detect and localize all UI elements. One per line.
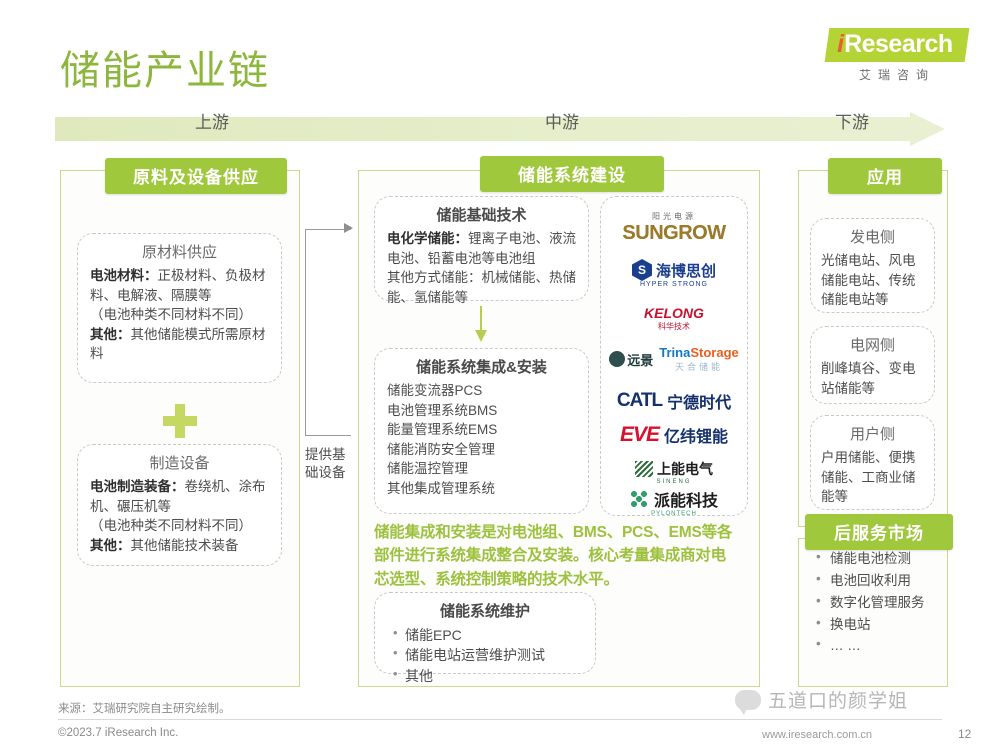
- equipment-label-1: 电池制造装备：: [90, 479, 185, 494]
- system-maintenance-title: 储能系统维护: [375, 600, 595, 621]
- raw-material-note: （电池种类不同材料不同）: [90, 307, 252, 322]
- sungrow-cn: 阳光电源: [601, 211, 747, 222]
- page-number: 12: [958, 727, 971, 741]
- plus-icon: [163, 404, 197, 438]
- company-logo-envision: 远景: [609, 350, 653, 369]
- company-logo-hyperstrong: S 海博思创 HYPER STRONG: [601, 259, 747, 288]
- equipment-label-2: 其他：: [90, 538, 131, 553]
- copyright-note: ©2023.7 iResearch Inc.: [58, 727, 178, 739]
- integration-item: 储能消防安全管理: [387, 440, 576, 460]
- hyperstrong-cn: 海博思创: [656, 260, 716, 281]
- grid-side-text: 削峰填谷、变电站储能等: [811, 359, 934, 404]
- equipment-note: （电池种类不同材料不同）: [90, 518, 252, 533]
- stage-label-downstream: 下游: [835, 108, 869, 133]
- company-logo-trina: TrinaStorage 天合储能: [659, 345, 738, 373]
- page-title: 储能产业链: [60, 38, 270, 96]
- after-service-header-pill: 后服务市场: [805, 514, 953, 550]
- raw-material-label-1: 电池材料：: [90, 268, 158, 283]
- after-service-list: 储能电池检测 电池回收利用 数字化管理服务 换电站 … …: [806, 548, 946, 657]
- trina-cn: 天合储能: [659, 360, 738, 373]
- upstream-to-midstream-connector: [305, 229, 351, 436]
- envision-mark-icon: [609, 351, 625, 367]
- storage-basic-tech-card: 储能基础技术 电化学储能：锂离子电池、液流电池、铅蓄电池等电池组 其他方式储能：…: [374, 196, 589, 301]
- raw-material-card: 原材料供应 电池材料：正极材料、负极材料、电解液、隔膜等 （电池种类不同材料不同…: [77, 233, 282, 383]
- source-note: 来源：艾瑞研究院自主研究绘制。: [58, 700, 231, 716]
- storage-basic-tech-title: 储能基础技术: [375, 204, 588, 225]
- upstream-header-pill: 原料及设备供应: [105, 158, 287, 194]
- generation-side-text: 光储电站、风电储能电站、传统储能电站等: [811, 251, 934, 316]
- kelong-cn: 科华技术: [601, 321, 747, 332]
- envision-cn: 远景: [627, 350, 653, 369]
- manufacturing-equipment-body: 电池制造装备：卷绕机、涂布机、碾压机等 （电池种类不同材料不同） 其他：其他储能…: [78, 477, 281, 563]
- company-logo-kelong: KELONG 科华技术: [601, 305, 747, 332]
- catl-cn: 宁德时代: [667, 389, 731, 413]
- sungrow-en: SUNGROW: [601, 222, 747, 245]
- list-item: 电池回收利用: [816, 570, 946, 592]
- list-item: 储能EPC: [393, 625, 595, 645]
- arrow-body: [55, 117, 910, 141]
- tech-label-2: 其他方式储能：: [387, 270, 482, 285]
- company-logo-pylontech: 派能科技 PYLONTECH: [601, 487, 747, 517]
- website-url: www.iresearch.com.cn: [762, 729, 872, 741]
- manufacturing-equipment-card: 制造设备 电池制造装备：卷绕机、涂布机、碾压机等 （电池种类不同材料不同） 其他…: [77, 444, 282, 566]
- connector-arrow-icon: [344, 223, 353, 233]
- tech-label-1: 电化学储能：: [387, 231, 468, 246]
- sineng-en: SINENG: [601, 479, 747, 485]
- manufacturing-equipment-title: 制造设备: [78, 452, 281, 473]
- sineng-cn: 上能电气: [657, 459, 713, 479]
- company-logo-row-envision-trina: 远景 TrinaStorage 天合储能: [601, 345, 747, 373]
- raw-material-label-2: 其他：: [90, 327, 131, 342]
- logo-research-text: Research: [844, 30, 953, 59]
- eve-cn: 亿纬锂能: [664, 423, 728, 447]
- slide-page: 储能产业链 iResearch 艾瑞咨询 上游 中游 下游 原料及设备供应 储能…: [0, 0, 1000, 750]
- logo-chinese-name: 艾瑞咨询: [822, 66, 972, 83]
- midstream-header-pill: 储能系统建设: [480, 156, 664, 192]
- integration-item: 其他集成管理系统: [387, 479, 576, 499]
- list-item: 储能电站运营维护测试: [393, 645, 595, 665]
- down-arrow-icon: [474, 306, 488, 344]
- system-integration-title: 储能系统集成&安装: [375, 356, 588, 377]
- user-side-text: 户用储能、便携储能、工商业储能等: [811, 448, 934, 513]
- raw-material-title: 原材料供应: [78, 241, 281, 262]
- stage-label-upstream: 上游: [195, 108, 229, 133]
- company-logo-sineng: 上能电气 SINENG: [601, 459, 747, 485]
- connector-label: 提供基础设备: [305, 446, 355, 482]
- pylontech-en: PYLONTECH: [601, 511, 747, 517]
- company-logo-eve: EVE 亿纬锂能: [601, 423, 747, 447]
- iresearch-logo: iResearch 艾瑞咨询: [822, 28, 972, 83]
- list-item: 其他: [393, 666, 595, 686]
- generation-side-title: 发电侧: [811, 226, 934, 247]
- integration-item: 电池管理系统BMS: [387, 401, 576, 421]
- catl-en: CATL: [617, 390, 662, 412]
- footer-divider: [58, 719, 942, 720]
- company-logo-catl: CATL 宁德时代: [601, 389, 747, 413]
- storage-basic-tech-body: 电化学储能：锂离子电池、液流电池、铅蓄电池等电池组 其他方式储能：机械储能、热储…: [375, 229, 588, 315]
- trina-en: TrinaStorage: [659, 345, 738, 360]
- downstream-header-pill: 应用: [828, 158, 942, 194]
- list-item: 数字化管理服务: [816, 592, 946, 614]
- user-side-card: 用户侧 户用储能、便携储能、工商业储能等: [810, 415, 935, 510]
- eve-en: EVE: [620, 423, 659, 447]
- watermark-text: 五道口的颜学姐: [768, 686, 908, 713]
- company-logo-panel: 阳光电源 SUNGROW S 海博思创 HYPER STRONG KELONG …: [600, 196, 748, 516]
- user-side-title: 用户侧: [811, 423, 934, 444]
- grid-side-title: 电网侧: [811, 334, 934, 355]
- list-item: 换电站: [816, 614, 946, 636]
- wechat-icon: [735, 690, 761, 710]
- company-logo-sungrow: 阳光电源 SUNGROW: [601, 211, 747, 245]
- logo-mark: iResearch: [825, 28, 969, 62]
- list-item: … …: [816, 635, 946, 657]
- system-integration-body: 储能变流器PCS 电池管理系统BMS 能量管理系统EMS 储能消防安全管理 储能…: [375, 381, 588, 506]
- maintenance-list: 储能EPC 储能电站运营维护测试 其他: [375, 625, 595, 686]
- pylontech-cn: 派能科技: [654, 487, 718, 511]
- integration-highlight-text: 储能集成和安装是对电池组、BMS、PCS、EMS等各部件进行系统集成整合及安装。…: [374, 521, 734, 591]
- sineng-mark-icon: [635, 461, 653, 477]
- hyperstrong-hex-icon: S: [632, 259, 652, 281]
- arrow-head-icon: [910, 112, 945, 146]
- grid-side-card: 电网侧 削峰填谷、变电站储能等: [810, 326, 935, 404]
- stage-arrow-bar: 上游 中游 下游: [55, 117, 945, 141]
- hyperstrong-en: HYPER STRONG: [601, 281, 747, 288]
- wechat-watermark: 五道口的颜学姐: [735, 686, 908, 713]
- pylontech-mark-icon: [630, 490, 650, 508]
- system-maintenance-card: 储能系统维护 储能EPC 储能电站运营维护测试 其他: [374, 592, 596, 674]
- list-item: 储能电池检测: [816, 548, 946, 570]
- raw-material-body: 电池材料：正极材料、负极材料、电解液、隔膜等 （电池种类不同材料不同） 其他：其…: [78, 266, 281, 372]
- generation-side-card: 发电侧 光储电站、风电储能电站、传统储能电站等: [810, 218, 935, 313]
- equipment-text-2: 其他储能技术装备: [131, 538, 239, 553]
- kelong-en: KELONG: [601, 305, 747, 321]
- system-integration-card: 储能系统集成&安装 储能变流器PCS 电池管理系统BMS 能量管理系统EMS 储…: [374, 348, 589, 514]
- stage-label-midstream: 中游: [545, 108, 579, 133]
- integration-item: 储能变流器PCS: [387, 381, 576, 401]
- integration-item: 储能温控管理: [387, 459, 576, 479]
- integration-item: 能量管理系统EMS: [387, 420, 576, 440]
